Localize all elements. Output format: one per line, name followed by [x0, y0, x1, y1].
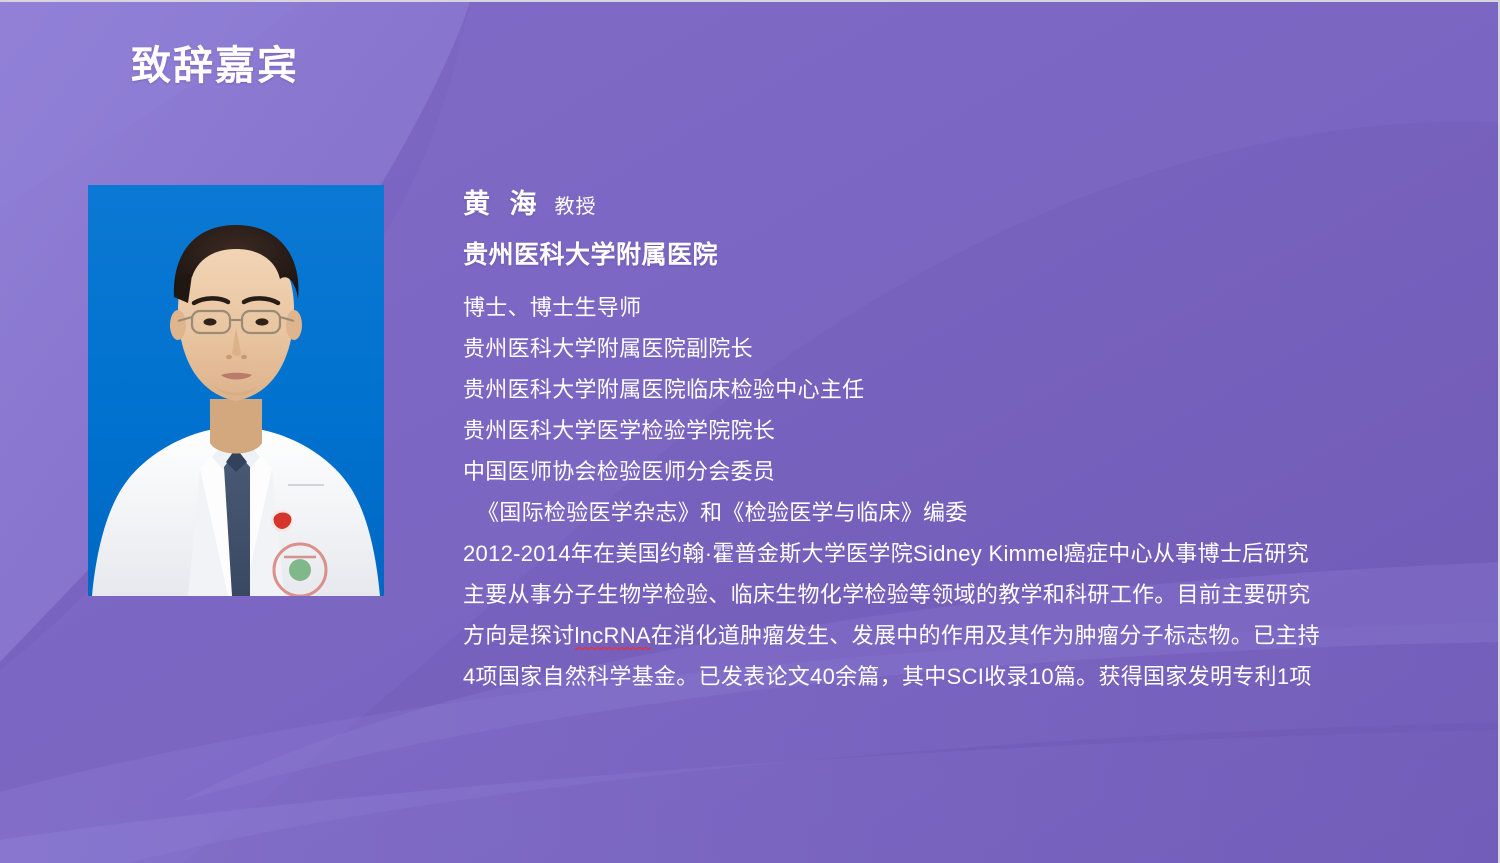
speaker-portrait: 黄海教授证件照: [88, 185, 384, 596]
list-item-spellchecked: 方向是探讨lncRNA在消化道肿瘤发生、发展中的作用及其作为肿瘤分子标志物。已主…: [463, 615, 1473, 656]
speaker-title: 教授: [555, 190, 597, 219]
list-item: 贵州医科大学附属医院副院长: [463, 328, 1473, 369]
list-item: 4项国家自然科学基金。已发表论文40余篇，其中SCI收录10篇。获得国家发明专利…: [463, 656, 1473, 697]
list-item: 主要从事分子生物学检验、临床生物化学检验等领域的教学和科研工作。目前主要研究: [463, 574, 1473, 615]
paragraph-line-2-suffix: 在消化道肿瘤发生、发展中的作用及其作为肿瘤分子标志物。已主持: [651, 623, 1320, 648]
speaker-bio-list: 博士、博士生导师 贵州医科大学附属医院副院长 贵州医科大学附属医院临床检验中心主…: [463, 287, 1473, 697]
slide-canvas: 致辞嘉宾: [0, 0, 1500, 863]
speaker-affiliation: 贵州医科大学附属医院: [463, 235, 1473, 271]
list-item: 博士、博士生导师: [463, 287, 1473, 328]
list-item: 贵州医科大学医学检验学院院长: [463, 410, 1473, 451]
paragraph-line-2-prefix: 方向是探讨: [463, 623, 575, 648]
page-title: 致辞嘉宾: [131, 42, 299, 90]
list-item: 《国际检验医学杂志》和《检验医学与临床》编委: [463, 492, 1473, 533]
speaker-name: 黄 海: [463, 182, 543, 221]
list-item: 贵州医科大学附属医院临床检验中心主任: [463, 369, 1473, 410]
list-item: 中国医师协会检验医师分会委员: [463, 451, 1473, 492]
spellcheck-term: lncRNA: [575, 623, 651, 648]
speaker-portrait-image: [88, 185, 384, 596]
speaker-info: 黄 海 教授 贵州医科大学附属医院 博士、博士生导师 贵州医科大学附属医院副院长…: [463, 182, 1473, 697]
speaker-name-row: 黄 海 教授: [463, 182, 1473, 221]
list-item: 2012-2014年在美国约翰·霍普金斯大学医学院Sidney Kimmel癌症…: [463, 533, 1473, 574]
